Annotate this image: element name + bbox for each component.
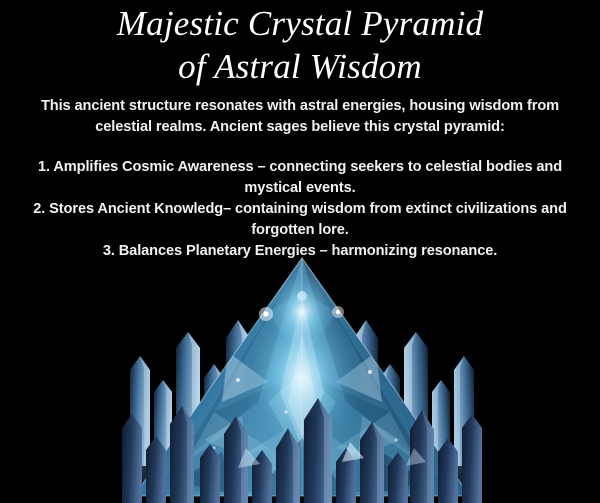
list-item: 3. Balances Planetary Energies – harmoni…	[26, 241, 574, 262]
poster-canvas: Majestic Crystal Pyramid of Astral Wisdo…	[0, 0, 600, 503]
intro-paragraph: This ancient structure resonates with as…	[26, 96, 574, 138]
list-item: 1. Amplifies Cosmic Awareness – connecti…	[26, 157, 574, 199]
list-item: 2. Stores Ancient Knowledg– containing w…	[26, 199, 574, 241]
title-line-1: Majestic Crystal Pyramid	[0, 2, 600, 45]
properties-list: 1. Amplifies Cosmic Awareness – connecti…	[26, 157, 574, 262]
crystal-pyramid-illustration	[118, 252, 486, 503]
page-title: Majestic Crystal Pyramid of Astral Wisdo…	[0, 2, 600, 88]
title-line-2: of Astral Wisdom	[0, 45, 600, 88]
body-text-block: This ancient structure resonates with as…	[26, 96, 574, 262]
crystal-pyramid-svg	[118, 252, 486, 503]
